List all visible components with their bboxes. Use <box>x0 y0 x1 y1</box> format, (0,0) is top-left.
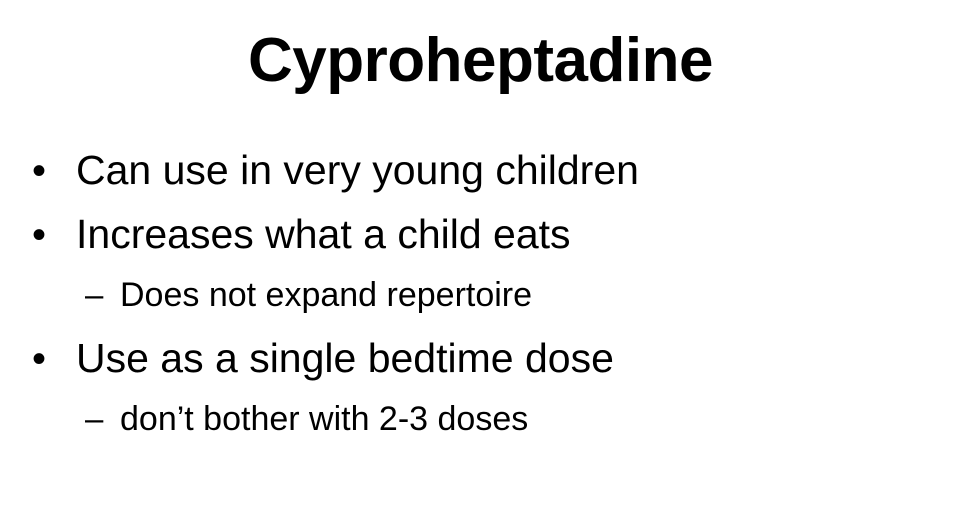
bullet-text: Use as a single bedtime dose <box>76 338 614 379</box>
presentation-slide: Cyproheptadine • Can use in very young c… <box>0 0 961 514</box>
bullet-marker-icon: • <box>32 215 76 255</box>
bullet-item: • Increases what a child eats <box>0 214 961 278</box>
slide-title: Cyproheptadine <box>0 28 961 95</box>
dash-marker-icon: – <box>85 402 120 435</box>
bullet-text: Can use in very young children <box>76 150 639 191</box>
dash-marker-icon: – <box>85 278 120 311</box>
sub-bullet-text: Does not expand repertoire <box>120 278 532 312</box>
sub-bullet-text: don’t bother with 2-3 doses <box>120 402 528 436</box>
sub-bullet-item: – Does not expand repertoire <box>0 278 961 338</box>
slide-body-list: • Can use in very young children • Incre… <box>0 150 961 462</box>
bullet-marker-icon: • <box>32 151 76 191</box>
bullet-marker-icon: • <box>32 339 76 379</box>
sub-bullet-item: – don’t bother with 2-3 doses <box>0 402 961 462</box>
bullet-text: Increases what a child eats <box>76 214 571 255</box>
bullet-item: • Use as a single bedtime dose <box>0 338 961 402</box>
bullet-item: • Can use in very young children <box>0 150 961 214</box>
